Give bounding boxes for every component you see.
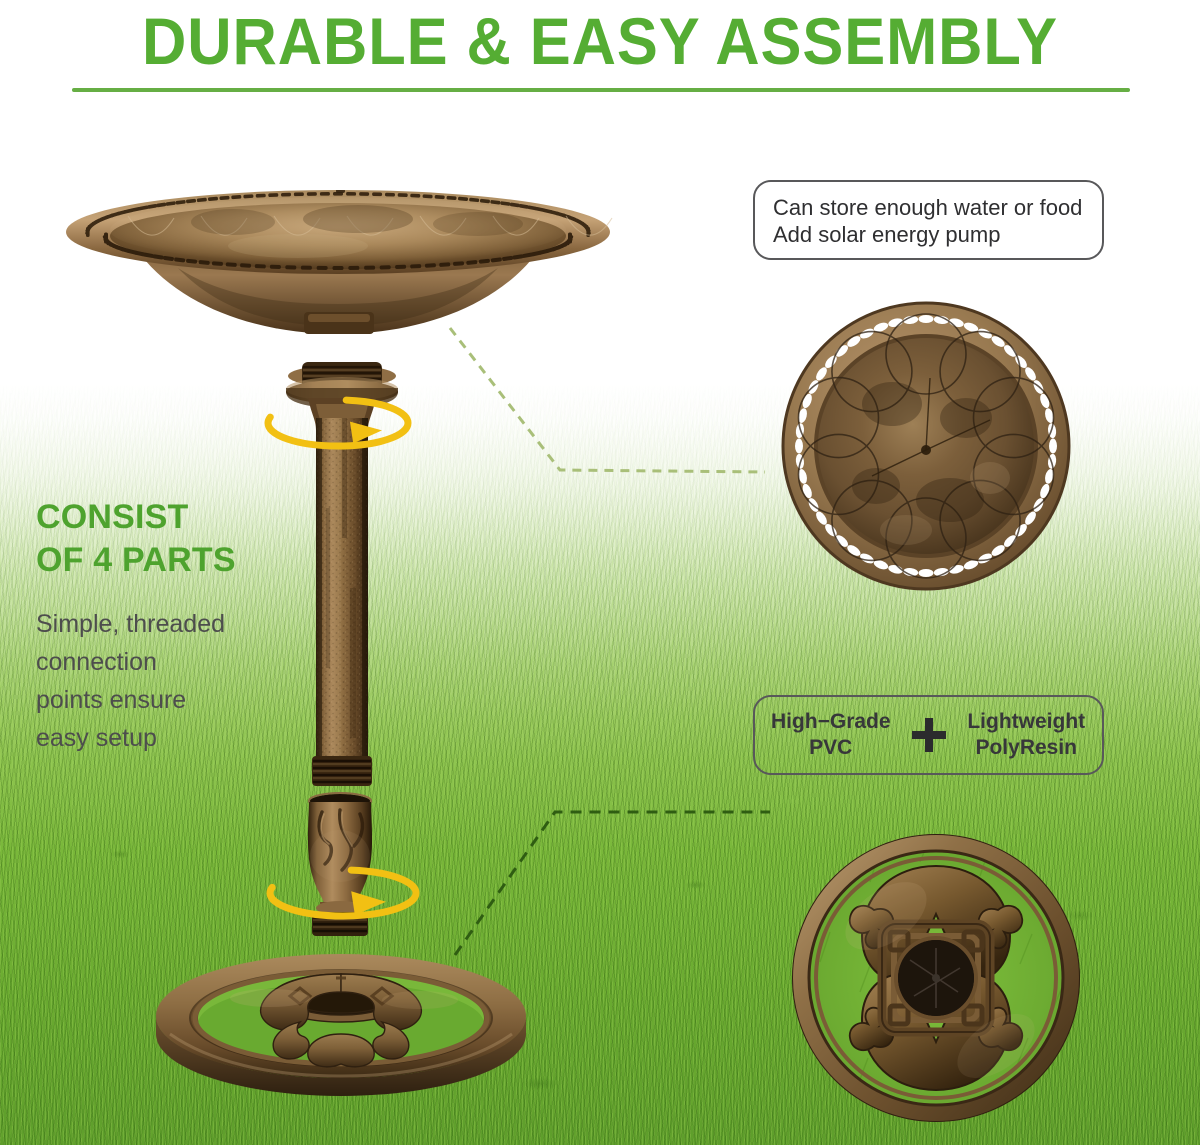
rotation-arrow-top — [262, 392, 414, 454]
bowl-side-view — [58, 186, 618, 338]
material-left-line2: PVC — [755, 735, 907, 761]
consist-body-line4: easy setup — [36, 719, 286, 757]
material-right-line1: Lightweight — [951, 709, 1103, 735]
consist-heading-line2: OF 4 PARTS — [36, 539, 336, 582]
consist-body-line1: Simple, threaded — [36, 605, 286, 643]
consist-heading: CONSIST OF 4 PARTS — [36, 496, 336, 582]
consist-body-line2: connection — [36, 643, 286, 681]
consist-body-line3: points ensure — [36, 681, 286, 719]
title-underline — [72, 88, 1130, 92]
consist-body: Simple, threaded connection points ensur… — [36, 605, 286, 757]
material-right-line2: PolyResin — [951, 735, 1103, 761]
callout-storage: Can store enough water or food Add solar… — [753, 180, 1104, 260]
base-top-view — [790, 832, 1082, 1124]
callout-storage-line1: Can store enough water or food — [773, 194, 1082, 221]
consist-heading-line1: CONSIST — [36, 498, 189, 536]
material-left: High−Grade PVC — [755, 709, 907, 761]
page-title: DURABLE & EASY ASSEMBLY — [42, 2, 1158, 80]
bowl-top-view — [780, 300, 1072, 592]
infographic-canvas: DURABLE & EASY ASSEMBLY — [0, 0, 1200, 1145]
ornate-base-perspective — [150, 938, 532, 1108]
rotation-arrow-bottom — [264, 862, 422, 924]
callout-materials: High−Grade PVC Lightweight PolyResin — [753, 695, 1104, 775]
callout-storage-line2: Add solar energy pump — [773, 221, 1000, 248]
material-left-line1: High−Grade — [755, 709, 907, 735]
material-right: Lightweight PolyResin — [951, 709, 1103, 761]
